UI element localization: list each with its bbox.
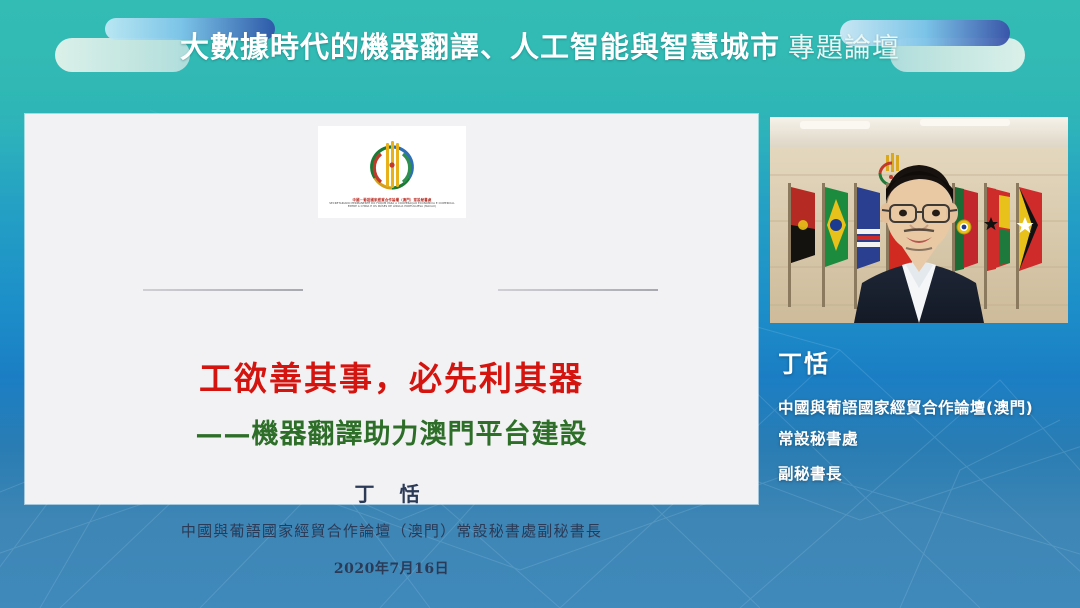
slide-panel: 中國－葡語國家經貿合作論壇（澳門）常設秘書處 SECRETARIADO PERM… bbox=[25, 114, 758, 504]
speaker-caption-org: 中國與葡語國家經貿合作論壇(澳門) bbox=[778, 396, 1033, 418]
slide-title: 工欲善其事，必先利其器 bbox=[25, 352, 758, 400]
presentation-screen: 大數據時代的機器翻譯、人工智能與智慧城市 專題論壇 bbox=[0, 0, 1080, 608]
speaker-caption-name: 丁恬 bbox=[778, 344, 830, 379]
forum-macao-emblem-icon bbox=[361, 138, 423, 196]
forum-title: 大數據時代的機器翻譯、人工智能與智慧城市 專題論壇 bbox=[0, 0, 1080, 90]
speaker-video-panel[interactable] bbox=[770, 117, 1068, 323]
forum-title-main: 大數據時代的機器翻譯、人工智能與智慧城市 bbox=[180, 24, 780, 66]
slide-subtitle: ——機器翻譯助力澳門平台建設 bbox=[25, 412, 758, 451]
forum-title-suffix: 專題論壇 bbox=[788, 26, 900, 65]
forum-logo-caption-cn: 中國－葡語國家經貿合作論壇（澳門）常設秘書處 bbox=[353, 197, 432, 202]
speaker-caption-dept: 常設秘書處 bbox=[778, 427, 858, 449]
divider-line-right bbox=[498, 289, 658, 291]
forum-macao-logo: 中國－葡語國家經貿合作論壇（澳門）常設秘書處 SECRETARIADO PERM… bbox=[318, 126, 466, 218]
footer-band: 2020年 7月 16日 主辦單位： 支持單位： bbox=[0, 518, 1080, 608]
slide-speaker-name: 丁 恬 bbox=[25, 478, 758, 507]
divider-line-left bbox=[143, 289, 303, 291]
forum-logo-caption-en: ENTRE A CHINA E OS PAÍSES DE LÍNGUA PORT… bbox=[348, 205, 436, 208]
speaker-caption-title: 副秘書長 bbox=[778, 462, 842, 484]
